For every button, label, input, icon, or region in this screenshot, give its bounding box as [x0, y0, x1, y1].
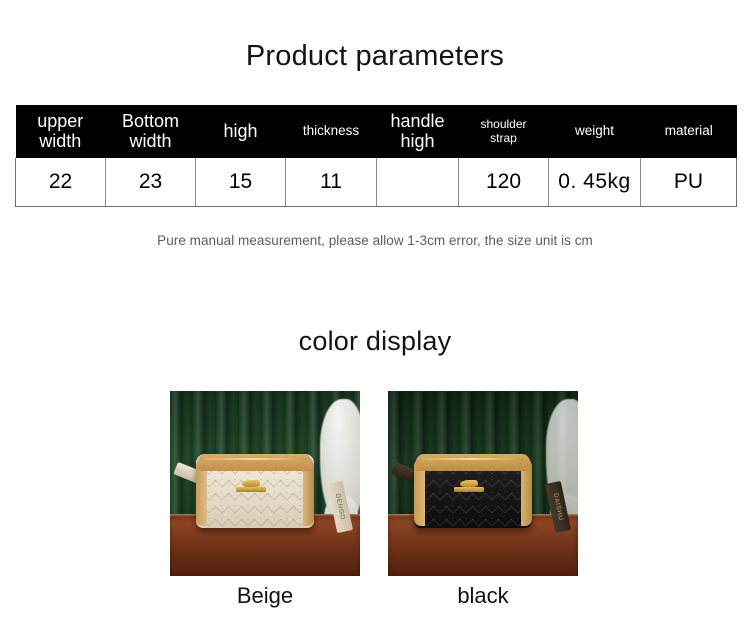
cell-value: 22 — [49, 170, 72, 194]
zipper — [422, 458, 524, 460]
col-header-material: material — [641, 105, 737, 158]
cell-value: 11 — [320, 170, 342, 194]
bag-body — [414, 454, 532, 528]
col-header-line1: material — [641, 124, 737, 138]
cell-bottom-width: 23 — [106, 158, 196, 207]
table-row: 22 23 15 11 120 0. 45kg PU — [16, 158, 737, 207]
col-header-shoulder-strap: shoulder strap — [459, 105, 549, 158]
cell-value: PU — [674, 170, 703, 194]
col-header-high: high — [196, 105, 286, 158]
measurement-note: Pure manual measurement, please allow 1-… — [0, 233, 750, 248]
bag-top-panel — [416, 454, 530, 471]
cell-handle-high — [377, 158, 459, 207]
color-swatch-beige[interactable]: DENGO Beige — [170, 391, 360, 576]
page-title-color-display: color display — [0, 326, 750, 357]
cat-emblem-icon — [236, 480, 266, 493]
col-header-line2: width — [16, 132, 106, 151]
cell-value: 0. 45kg — [558, 170, 630, 194]
col-header-line1: Bottom — [106, 112, 195, 131]
product-photo-black[interactable]: DAISHU — [388, 391, 578, 576]
cell-upper-width: 22 — [16, 158, 106, 207]
cell-thickness: 11 — [286, 158, 377, 207]
page-title-product-parameters: Product parameters — [0, 40, 750, 73]
handbag-beige: DENGO — [196, 454, 314, 528]
strap-brand-text: DAISHU — [552, 492, 565, 521]
strap-brand-text: DENGO — [334, 493, 346, 521]
cell-weight: 0. 45kg — [549, 158, 641, 207]
cell-material: PU — [641, 158, 737, 207]
col-header-line1: handle — [377, 112, 458, 131]
col-header-line2: width — [106, 132, 195, 151]
bag-body — [196, 454, 314, 528]
product-photo-beige[interactable]: DENGO — [170, 391, 360, 576]
col-header-upper-width: upper width — [16, 105, 106, 158]
color-label-black: black — [388, 583, 578, 609]
parameters-table: upper width Bottom width high thickness … — [15, 105, 737, 207]
color-label-beige: Beige — [170, 583, 360, 609]
handbag-black: DAISHU — [414, 454, 532, 528]
col-header-handle-high: handle high — [377, 105, 459, 158]
cell-high: 15 — [196, 158, 286, 207]
col-header-line2: strap — [459, 132, 548, 146]
parameters-table-wrapper: upper width Bottom width high thickness … — [15, 105, 736, 207]
col-header-line1: shoulder — [459, 118, 548, 132]
color-swatch-black[interactable]: DAISHU black — [388, 391, 578, 576]
cell-value: 120 — [486, 170, 521, 194]
cell-shoulder-strap: 120 — [459, 158, 549, 207]
table-body: 22 23 15 11 120 0. 45kg PU — [16, 158, 737, 207]
color-swatch-list: DENGO Beige — [0, 391, 750, 626]
col-header-bottom-width: Bottom width — [106, 105, 196, 158]
col-header-line2: high — [377, 132, 458, 151]
col-header-line1: high — [196, 122, 285, 141]
col-header-line1: thickness — [286, 124, 376, 138]
cell-value: 23 — [139, 170, 162, 194]
table-header: upper width Bottom width high thickness … — [16, 105, 737, 158]
col-header-weight: weight — [549, 105, 641, 158]
col-header-line1: upper — [16, 112, 106, 131]
cat-emblem-icon — [454, 480, 484, 493]
col-header-thickness: thickness — [286, 105, 377, 158]
cell-value: 15 — [229, 170, 252, 194]
bag-top-panel — [198, 454, 312, 471]
table-header-row: upper width Bottom width high thickness … — [16, 105, 737, 158]
col-header-line1: weight — [549, 124, 640, 138]
zipper — [204, 458, 306, 460]
